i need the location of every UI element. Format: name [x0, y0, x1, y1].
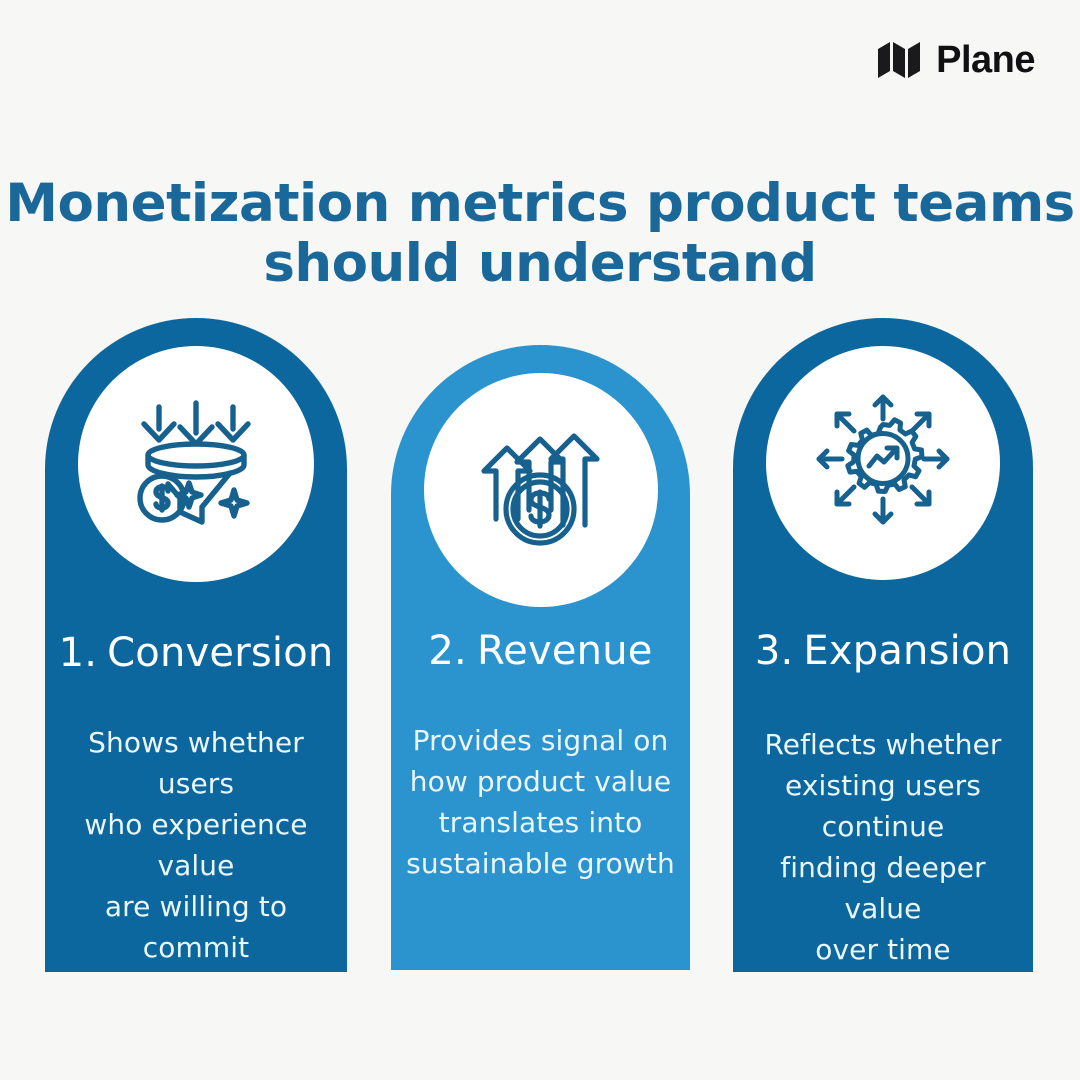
card-description-expansion: Reflects whether existing users continue… — [741, 724, 1025, 970]
card-description-revenue: Provides signal on how product value tra… — [399, 720, 682, 884]
icon-badge-expansion — [766, 346, 1000, 580]
conversion-funnel-icon — [123, 391, 269, 537]
page-title: Monetization metrics product teams shoul… — [0, 174, 1080, 294]
desc-line: Provides signal on — [399, 720, 682, 761]
card-number-3: 3. — [755, 628, 794, 674]
card-title-2: Revenue — [477, 628, 653, 674]
desc-line: over time — [741, 929, 1025, 970]
icon-badge-revenue — [424, 373, 658, 607]
page-title-line-1: Monetization metrics product teams — [0, 174, 1080, 234]
page-title-line-2: should understand — [0, 234, 1080, 294]
desc-line: Shows whether users — [53, 722, 339, 804]
card-description-conversion: Shows whether users who experience value… — [53, 722, 339, 972]
card-number-1: 1. — [59, 630, 98, 676]
desc-line: how product value — [399, 761, 682, 802]
desc-line: translates into — [399, 802, 682, 843]
icon-badge-conversion — [78, 346, 314, 582]
brand-logo: Plane — [876, 40, 1035, 80]
card-number-2: 2. — [428, 628, 467, 674]
desc-line: sustainable growth — [399, 843, 682, 884]
desc-line: Reflects whether — [741, 724, 1025, 765]
desc-line: finding deeper value — [741, 847, 1025, 929]
desc-line: to the product — [53, 968, 339, 972]
desc-line: are willing to commit — [53, 886, 339, 968]
metric-card-conversion: 1.Conversion Shows whether users who exp… — [45, 318, 347, 972]
card-heading-conversion: 1.Conversion — [45, 630, 347, 676]
desc-line: who experience value — [53, 804, 339, 886]
infographic-canvas: Plane Monetization metrics product teams… — [0, 0, 1080, 1080]
card-title-3: Expansion — [803, 628, 1011, 674]
revenue-growth-coin-icon — [473, 422, 609, 558]
plane-logo-mark-icon — [876, 40, 924, 80]
metric-card-revenue: 2.Revenue Provides signal on how product… — [391, 345, 690, 970]
card-heading-expansion: 3.Expansion — [733, 628, 1033, 674]
brand-name: Plane — [936, 41, 1035, 79]
card-title-1: Conversion — [107, 630, 333, 676]
metric-card-expansion: 3.Expansion Reflects whether existing us… — [733, 318, 1033, 972]
expansion-gear-arrows-icon — [809, 389, 957, 537]
card-heading-revenue: 2.Revenue — [391, 628, 690, 674]
desc-line: existing users continue — [741, 765, 1025, 847]
